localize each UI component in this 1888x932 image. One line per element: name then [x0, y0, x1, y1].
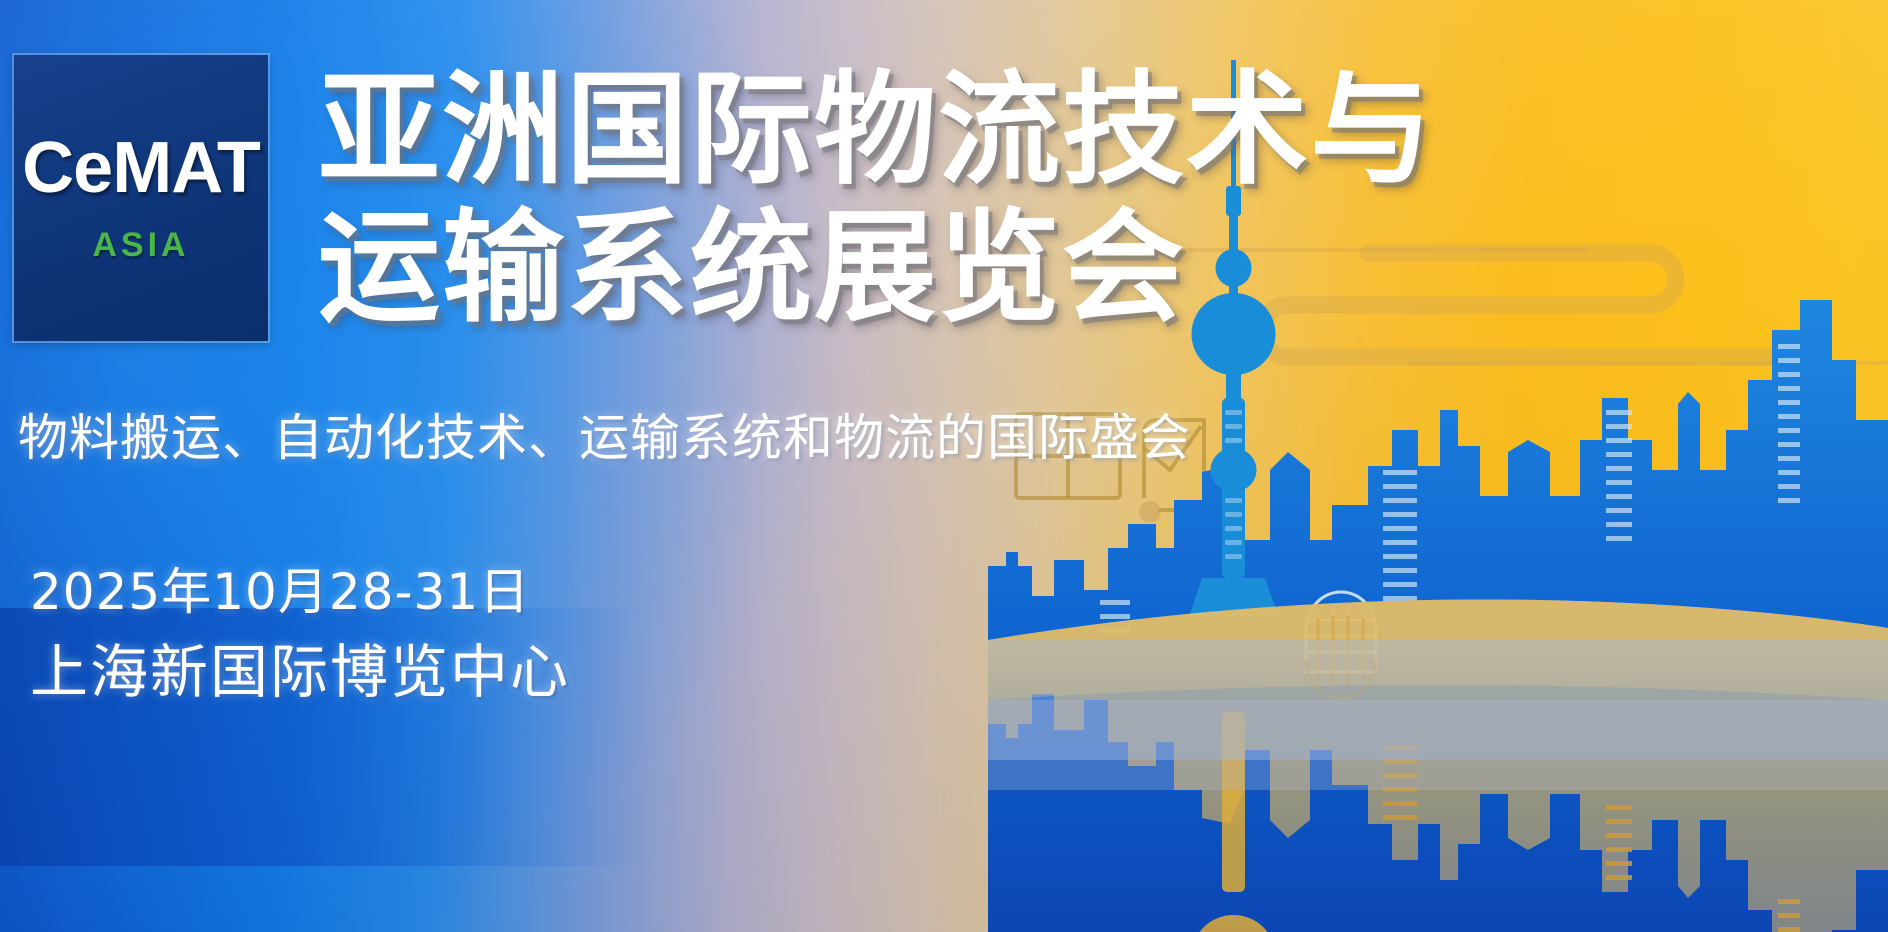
event-date: 2025年10月28-31日 [30, 552, 530, 624]
headline-line-1: 亚洲国际物流技术与 [318, 62, 1418, 200]
logo-wordmark: CeMAT [22, 132, 260, 204]
headline-line-2: 运输系统展览会 [318, 200, 1418, 338]
cemat-asia-logo: CeMAT ASIA [14, 55, 268, 341]
page-title: 亚洲国际物流技术与 运输系统展览会 [318, 62, 1418, 338]
subtitle: 物料搬运、自动化技术、运输系统和物流的国际盛会 [18, 398, 1191, 470]
logo-region: ASIA [92, 226, 189, 265]
cemat-asia-banner: CeMAT ASIA 亚洲国际物流技术与 运输系统展览会 物料搬运、自动化技术、… [0, 0, 1888, 932]
event-venue: 上海新国际博览中心 [30, 625, 570, 709]
